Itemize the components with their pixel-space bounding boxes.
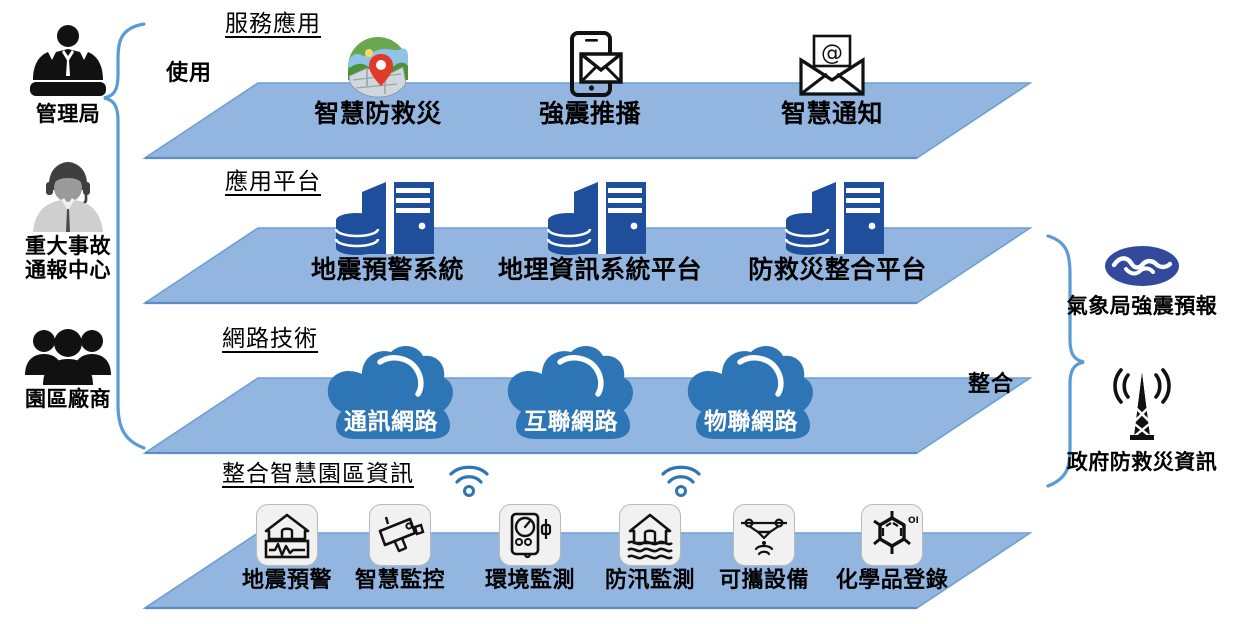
left-actor-重大事故通報中心[interactable]: 重大事故 通報中心 [3, 160, 133, 282]
left-actor-label: 園區廠商 [3, 388, 133, 412]
layer-caption-devices: 整合智慧園區資訊 [222, 460, 414, 488]
left-actor-label: 管理局 [3, 103, 133, 127]
svg-text:@: @ [821, 41, 843, 66]
email-envelope-icon: @ [797, 34, 867, 98]
group-people-icon [20, 325, 116, 387]
cloud-label: 通訊網路 [337, 402, 445, 436]
node-地理資訊系統平台[interactable]: 地理資訊系統平台 [490, 178, 710, 283]
node-label: 智慧通知 [762, 102, 902, 127]
node-地震預警[interactable]: 地震預警 [225, 500, 349, 591]
layer-caption-service: 服務應用 [225, 10, 321, 38]
device-tile [256, 504, 318, 566]
right-actor-政府防救災資訊[interactable]: 政府防救災資訊 [1042, 365, 1242, 474]
left-actor-label-line1: 重大事故 [3, 235, 133, 259]
wifi-signal-icon [448, 462, 490, 503]
node-label: 化學品登錄 [822, 569, 962, 591]
node-智慧監控[interactable]: 智慧監控 [338, 500, 462, 591]
house-seismograph-icon [261, 509, 313, 561]
left-actor-label-line2: 通報中心 [3, 259, 133, 283]
node-可攜設備[interactable]: 可攜設備 [702, 500, 826, 591]
node-智慧防救災[interactable]: 智慧防救災 [308, 28, 448, 127]
node-智慧通知[interactable]: @ 智慧通知 [762, 28, 902, 127]
left-actor-管理局[interactable]: 管理局 [3, 22, 133, 127]
architecture-diagram: 使用 整合 管理局 重大事故 [0, 0, 1249, 624]
broadcast-tower-icon [1100, 365, 1184, 443]
node-label: 智慧監控 [338, 569, 462, 591]
node-label: 地理資訊系統平台 [490, 258, 710, 283]
wifi-signal-icon [660, 462, 702, 503]
node-防汛監測[interactable]: 防汛監測 [588, 500, 712, 591]
right-brace-label: 整合 [968, 366, 1014, 398]
layer-caption-network: 網路技術 [222, 325, 318, 353]
node-label: 地震預警 [225, 569, 349, 591]
node-label: 可攜設備 [702, 569, 826, 591]
cctv-camera-icon [374, 509, 426, 561]
layer-caption-platform: 應用平台 [225, 168, 321, 196]
cloud-label: 互聯網路 [517, 402, 625, 436]
device-tile [369, 504, 431, 566]
node-label: 環境監測 [468, 569, 592, 591]
node-互聯網路[interactable]: 互聯網路 [498, 340, 644, 445]
node-label: 防救災整合平台 [740, 258, 935, 283]
flood-house-icon [624, 509, 676, 561]
device-tile: OH [861, 504, 923, 566]
node-物聯網路[interactable]: 物聯網路 [678, 340, 824, 445]
node-環境監測[interactable]: 環境監測 [468, 500, 592, 591]
node-通訊網路[interactable]: 通訊網路 [318, 340, 464, 445]
node-地震預警系統[interactable]: 地震預警系統 [310, 178, 465, 283]
cloud-label: 物聯網路 [697, 402, 805, 436]
node-label: 地震預警系統 [310, 258, 465, 283]
node-label: 防汛監測 [588, 569, 712, 591]
right-actor-label: 氣象局強震預報 [1042, 295, 1242, 318]
manager-podium-icon [26, 22, 110, 102]
phone-message-icon [555, 30, 625, 98]
drone-icon [738, 509, 790, 561]
left-actor-園區廠商[interactable]: 園區廠商 [3, 325, 133, 412]
map-location-pin-icon [347, 36, 409, 98]
node-label: 強震推播 [520, 102, 660, 127]
right-actor-氣象局強震預報[interactable]: 氣象局強震預報 [1042, 245, 1242, 318]
server-database-icon [546, 180, 654, 256]
node-強震推播[interactable]: 強震推播 [520, 28, 660, 127]
node-防救災整合平台[interactable]: 防救災整合平台 [740, 178, 935, 283]
server-database-icon [784, 180, 892, 256]
svg-text:OH: OH [908, 516, 918, 526]
node-label: 智慧防救災 [308, 102, 448, 127]
operator-headset-icon [27, 160, 109, 234]
chemical-benzene-icon: OH [866, 509, 918, 561]
device-tile [619, 504, 681, 566]
cwb-logo-icon [1104, 245, 1180, 287]
left-brace-label: 使用 [166, 55, 212, 87]
node-化學品登錄[interactable]: OH 化學品登錄 [822, 500, 962, 591]
right-actor-label: 政府防救災資訊 [1042, 451, 1242, 474]
server-database-icon [334, 180, 442, 256]
environment-gauge-icon [504, 509, 556, 561]
device-tile [733, 504, 795, 566]
device-tile [499, 504, 561, 566]
